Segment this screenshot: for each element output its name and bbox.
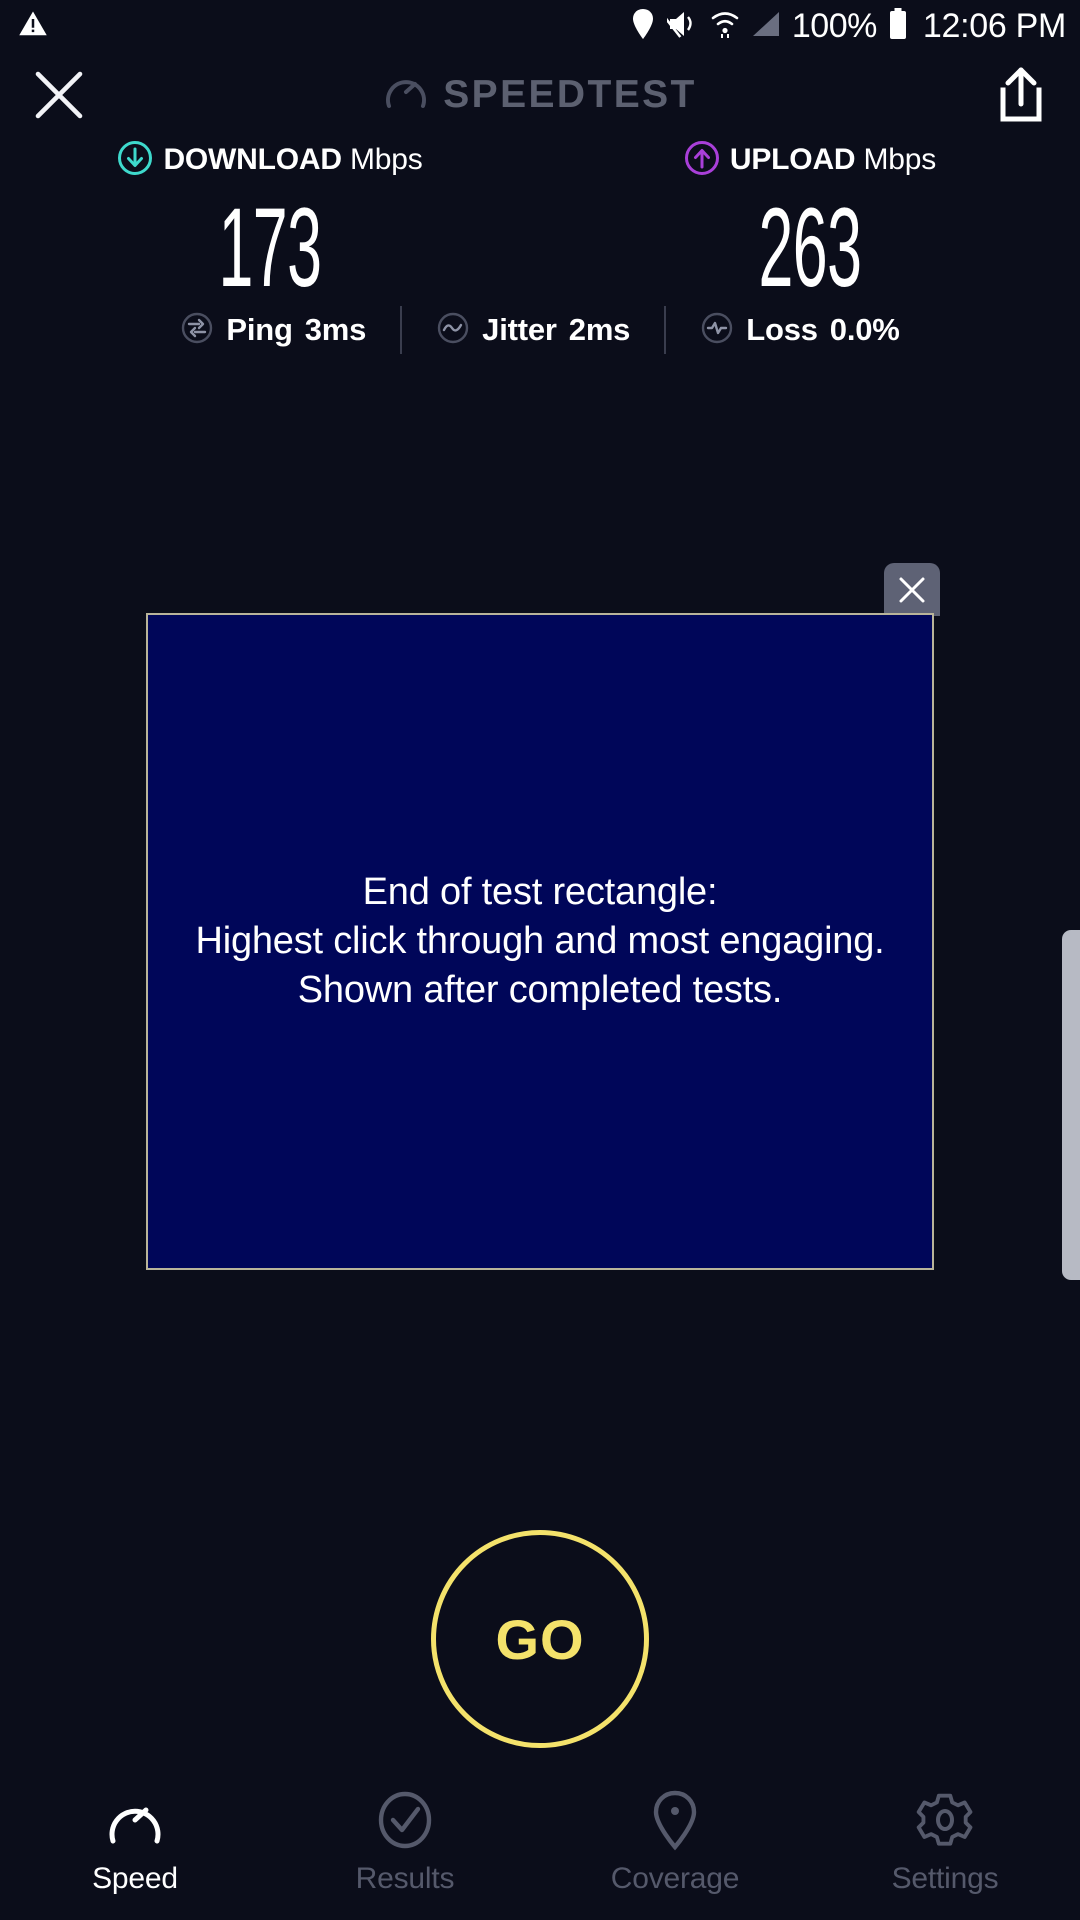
status-bar-left <box>18 9 48 44</box>
upload-value: 263 <box>759 196 862 300</box>
status-bar-clock: 12:06 PM <box>923 9 1066 43</box>
speedometer-logo-icon <box>383 69 429 120</box>
nav-label-coverage: Coverage <box>611 1862 739 1896</box>
close-button[interactable] <box>28 64 90 126</box>
nav-item-results[interactable]: Results <box>270 1774 540 1920</box>
wifi-icon <box>710 9 740 44</box>
speedtest-app-screen: 100% 12:06 PM SPEEDTEST <box>0 0 1080 1920</box>
cellular-signal-icon <box>751 9 781 44</box>
loss-icon <box>700 311 734 350</box>
ping-label: Ping <box>226 312 292 348</box>
gear-icon <box>913 1788 977 1852</box>
ping-value: 3ms <box>305 312 366 348</box>
upload-result: UPLOAD Mbps 263 <box>540 138 1080 300</box>
scrollbar-thumb[interactable] <box>1062 930 1080 1280</box>
go-button-label: GO <box>495 1607 584 1672</box>
ad-line-3: Shown after completed tests. <box>195 966 884 1015</box>
volume-muted-icon <box>667 9 699 44</box>
speed-values-row: DOWNLOAD Mbps 173 UPLOAD Mbps 263 <box>0 138 1080 300</box>
ad-close-button[interactable] <box>884 563 940 616</box>
speedometer-icon <box>103 1788 167 1852</box>
check-circle-icon <box>373 1788 437 1852</box>
results-panel: DOWNLOAD Mbps 173 UPLOAD Mbps 263 <box>0 138 1080 300</box>
loss-label: Loss <box>746 312 818 348</box>
nav-label-speed: Speed <box>92 1862 178 1896</box>
go-button[interactable]: GO <box>431 1530 649 1748</box>
status-bar: 100% 12:06 PM <box>0 0 1080 52</box>
page-title: SPEEDTEST <box>443 73 697 117</box>
brand-title-group: SPEEDTEST <box>0 52 1080 137</box>
upload-label: UPLOAD Mbps <box>730 143 936 177</box>
advertisement-banner[interactable]: End of test rectangle: Highest click thr… <box>146 613 934 1270</box>
jitter-value: 2ms <box>569 312 630 348</box>
jitter-icon <box>436 311 470 350</box>
bottom-navigation: Speed Results Coverage <box>0 1774 1080 1920</box>
loss-value: 0.0% <box>830 312 900 348</box>
download-arrow-icon <box>117 140 153 181</box>
nav-item-speed[interactable]: Speed <box>0 1774 270 1920</box>
metric-loss: Loss 0.0% <box>666 311 933 350</box>
jitter-label: Jitter <box>482 312 557 348</box>
nav-label-settings: Settings <box>892 1862 999 1896</box>
share-button[interactable] <box>992 64 1050 126</box>
nav-item-settings[interactable]: Settings <box>810 1774 1080 1920</box>
nav-item-coverage[interactable]: Coverage <box>540 1774 810 1920</box>
metrics-row: Ping 3ms Jitter 2ms <box>0 306 1080 354</box>
metric-jitter: Jitter 2ms <box>402 311 664 350</box>
ad-line-1: End of test rectangle: <box>195 868 884 917</box>
ping-icon <box>180 311 214 350</box>
download-header: DOWNLOAD Mbps <box>117 138 422 182</box>
ad-close-icon <box>897 575 927 605</box>
map-pin-icon <box>643 1788 707 1852</box>
download-result: DOWNLOAD Mbps 173 <box>0 138 540 300</box>
battery-full-icon <box>888 8 908 45</box>
battery-percent-label: 100% <box>792 9 877 43</box>
metric-ping: Ping 3ms <box>146 311 400 350</box>
app-header: SPEEDTEST <box>0 52 1080 137</box>
warning-triangle-icon <box>18 9 48 44</box>
upload-header: UPLOAD Mbps <box>684 138 936 182</box>
upload-arrow-icon <box>684 140 720 181</box>
status-bar-right: 100% 12:06 PM <box>630 8 1066 45</box>
download-label: DOWNLOAD Mbps <box>163 143 422 177</box>
nav-label-results: Results <box>356 1862 455 1896</box>
ad-text-block: End of test rectangle: Highest click thr… <box>181 868 898 1015</box>
ad-line-2: Highest click through and most engaging. <box>195 917 884 966</box>
download-value: 173 <box>219 196 322 300</box>
location-pin-icon <box>630 9 656 44</box>
